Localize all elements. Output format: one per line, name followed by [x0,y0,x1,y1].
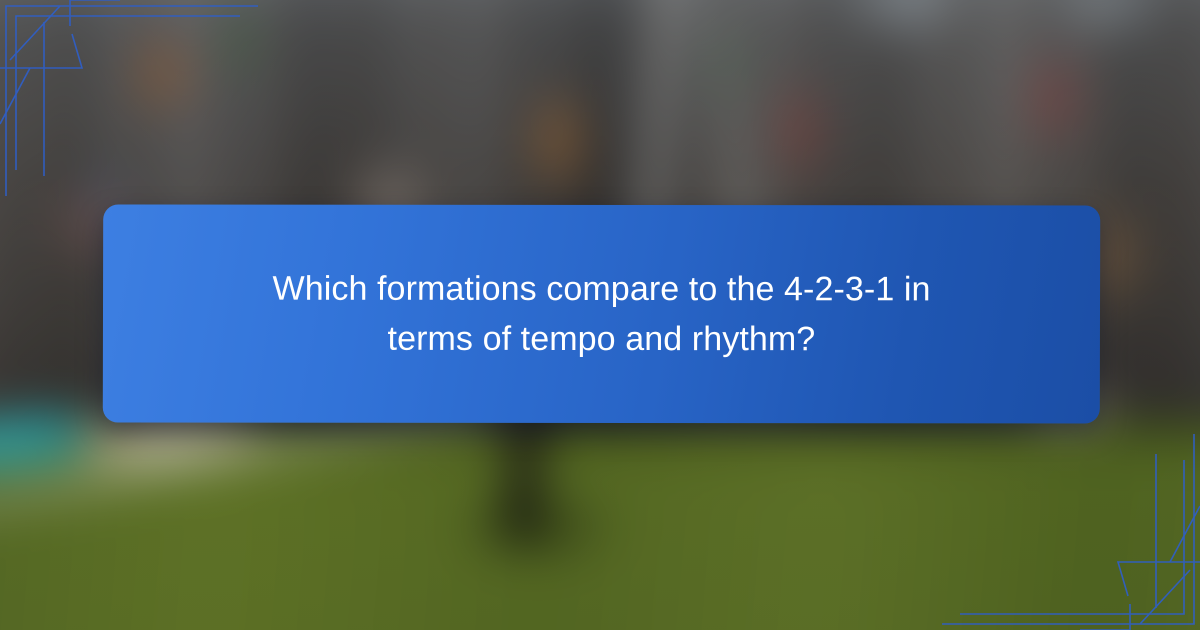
question-card-surface: Which formations compare to the 4-2-3-1 … [103,204,1100,423]
social-card-canvas: Which formations compare to the 4-2-3-1 … [0,0,1200,630]
question-text: Which formations compare to the 4-2-3-1 … [206,264,996,365]
question-card: Which formations compare to the 4-2-3-1 … [103,204,1100,423]
